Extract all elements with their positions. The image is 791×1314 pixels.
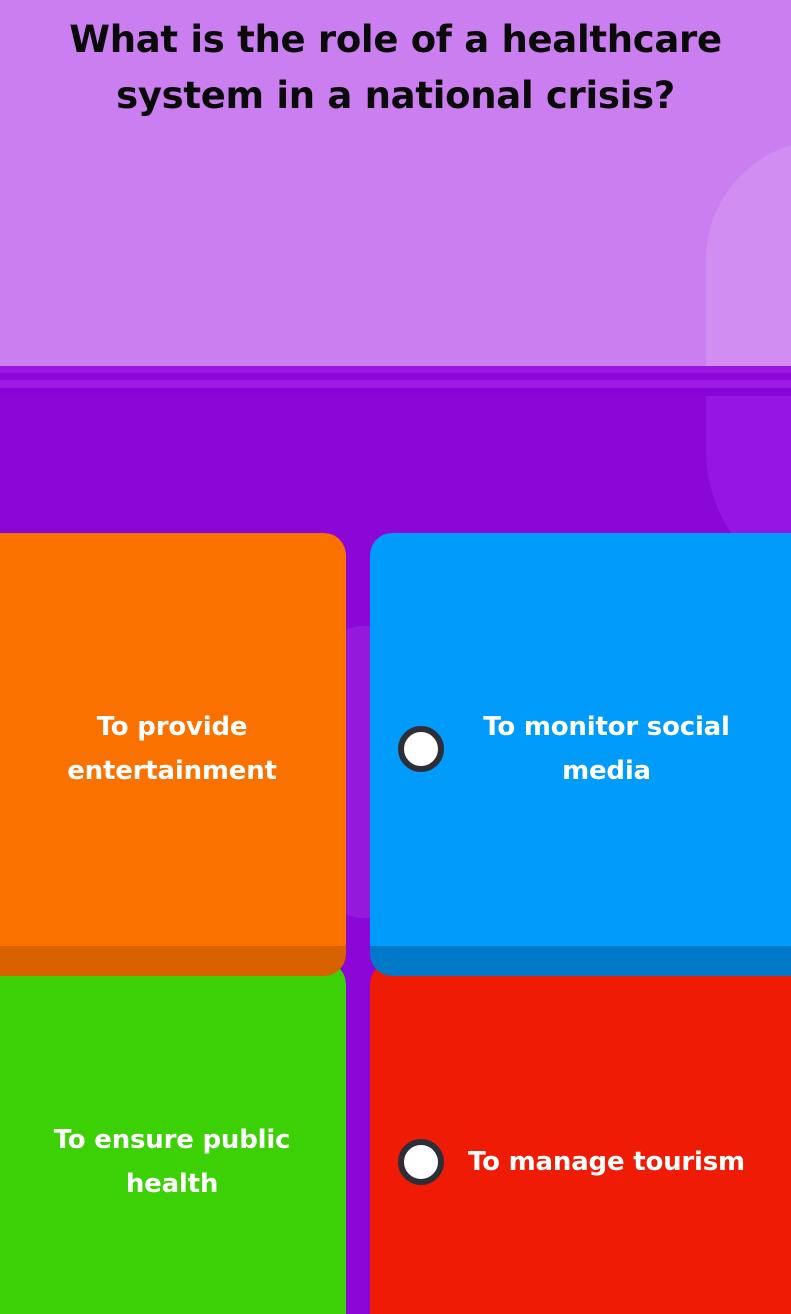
answer-option-orange[interactable]: To provide entertainment [0,533,346,976]
tile-content: To ensure public health [0,1118,346,1206]
quiz-screen: What is the role of a healthcare system … [0,0,791,1314]
tile-content: To provide entertainment [0,705,346,804]
tile-face [370,962,791,1314]
tile-bevel [0,946,346,976]
answer-option-red[interactable]: To manage tourism [370,962,791,1314]
tile-content: To manage tourism [370,1139,791,1185]
answer-grid: To provide entertainment To monitor soci… [0,0,791,1314]
answer-label: To manage tourism [444,1140,761,1184]
answer-label: To ensure public health [8,1118,336,1206]
answer-label: To monitor social media [444,705,761,793]
answer-option-green[interactable]: To ensure public health [0,962,346,1314]
tile-content: To monitor social media [370,705,791,804]
circle-radio-icon[interactable] [398,1139,444,1185]
tile-bevel [370,946,791,976]
circle-radio-icon[interactable] [398,726,444,772]
answer-option-blue[interactable]: To monitor social media [370,533,791,976]
answer-label: To provide entertainment [8,705,336,793]
